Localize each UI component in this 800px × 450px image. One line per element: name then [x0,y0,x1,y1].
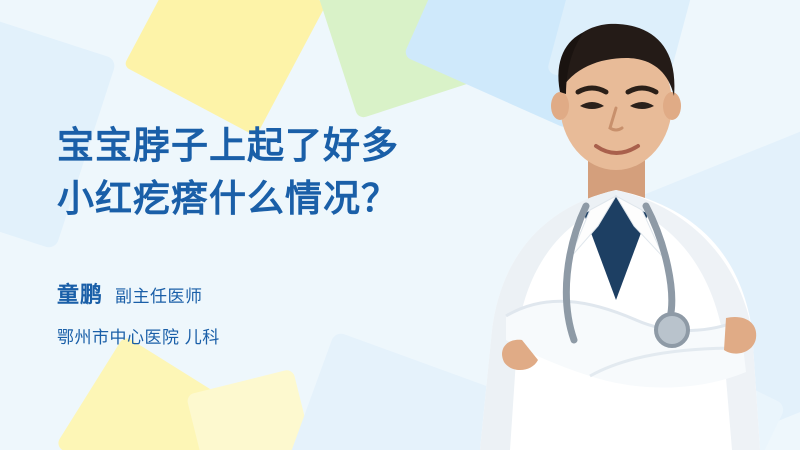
video-thumbnail-card: 宝宝脖子上起了好多 小红疙瘩什么情况？ 童鹏 副主任医师 鄂州市中心医院 儿科 [0,0,800,450]
byline: 童鹏 副主任医师 [57,277,527,309]
title-line-2: 小红疙瘩什么情况？ [57,173,527,226]
decorative-shape-yellow-top [124,0,327,136]
doctor-name: 童鹏 [57,277,103,309]
title-line-1: 宝宝脖子上起了好多 [57,120,527,173]
text-block: 宝宝脖子上起了好多 小红疙瘩什么情况？ 童鹏 副主任医师 鄂州市中心医院 儿科 [57,120,527,348]
doctor-title: 副主任医师 [115,282,203,307]
page-title: 宝宝脖子上起了好多 小红疙瘩什么情况？ [57,120,527,225]
doctor-affiliation: 鄂州市中心医院 儿科 [57,323,527,348]
